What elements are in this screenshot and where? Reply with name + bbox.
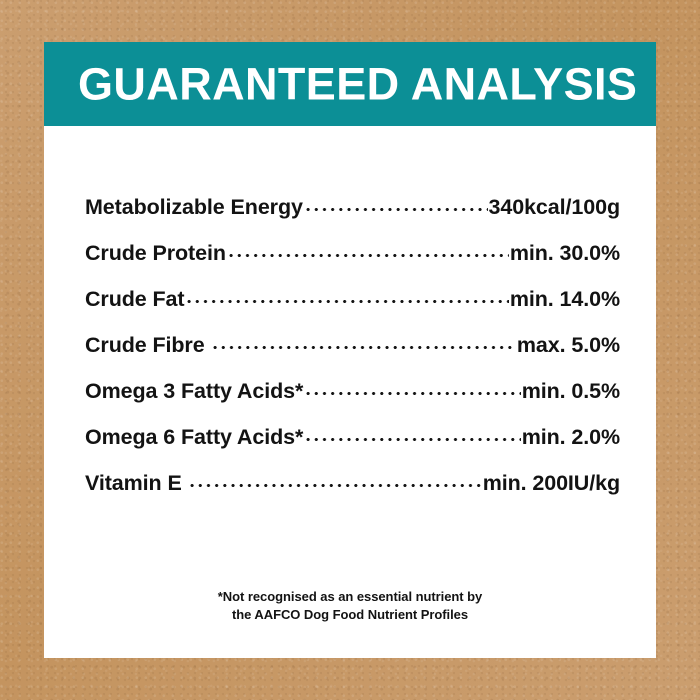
nutrient-value: 340kcal/100g (489, 195, 621, 220)
guaranteed-analysis-card: GUARANTEED ANALYSIS Metabolizable Energy… (44, 42, 656, 658)
table-row: Crude Protein min. 30.0% (85, 238, 620, 284)
dot-leader (304, 422, 520, 444)
nutrient-value: min. 2.0% (522, 425, 620, 450)
nutrient-value: min. 30.0% (510, 241, 620, 266)
dot-leader (188, 468, 482, 490)
dot-leader (304, 376, 520, 398)
nutrient-label: Omega 3 Fatty Acids* (85, 379, 303, 404)
dot-leader (211, 330, 516, 352)
dot-leader (227, 238, 509, 260)
kraft-paper-background: GUARANTEED ANALYSIS Metabolizable Energy… (0, 0, 700, 700)
dot-leader (304, 192, 488, 214)
page-title: GUARANTEED ANALYSIS (78, 62, 637, 107)
table-row: Crude Fat min. 14.0% (85, 284, 620, 330)
nutrient-label: Crude Fat (85, 287, 184, 312)
nutrient-label: Metabolizable Energy (85, 195, 303, 220)
header-banner: GUARANTEED ANALYSIS (44, 42, 656, 126)
nutrient-value: max. 5.0% (517, 333, 620, 358)
dot-leader (185, 284, 508, 306)
nutrient-label: Omega 6 Fatty Acids* (85, 425, 303, 450)
footnote: *Not recognised as an essential nutrient… (44, 588, 656, 624)
table-row: Omega 6 Fatty Acids* min. 2.0% (85, 422, 620, 468)
nutrient-label: Crude Fibre (85, 333, 205, 358)
footnote-line-2: the AAFCO Dog Food Nutrient Profiles (44, 606, 656, 624)
table-row: Vitamin E min. 200IU/kg (85, 468, 620, 514)
table-row: Omega 3 Fatty Acids* min. 0.5% (85, 376, 620, 422)
table-row: Crude Fibre max. 5.0% (85, 330, 620, 376)
footnote-line-1: *Not recognised as an essential nutrient… (44, 588, 656, 606)
nutrient-value: min. 0.5% (522, 379, 620, 404)
nutrient-table: Metabolizable Energy 340kcal/100g Crude … (85, 192, 620, 514)
nutrient-value: min. 200IU/kg (483, 471, 620, 496)
nutrient-label: Vitamin E (85, 471, 182, 496)
table-row: Metabolizable Energy 340kcal/100g (85, 192, 620, 238)
nutrient-value: min. 14.0% (510, 287, 620, 312)
nutrient-label: Crude Protein (85, 241, 226, 266)
